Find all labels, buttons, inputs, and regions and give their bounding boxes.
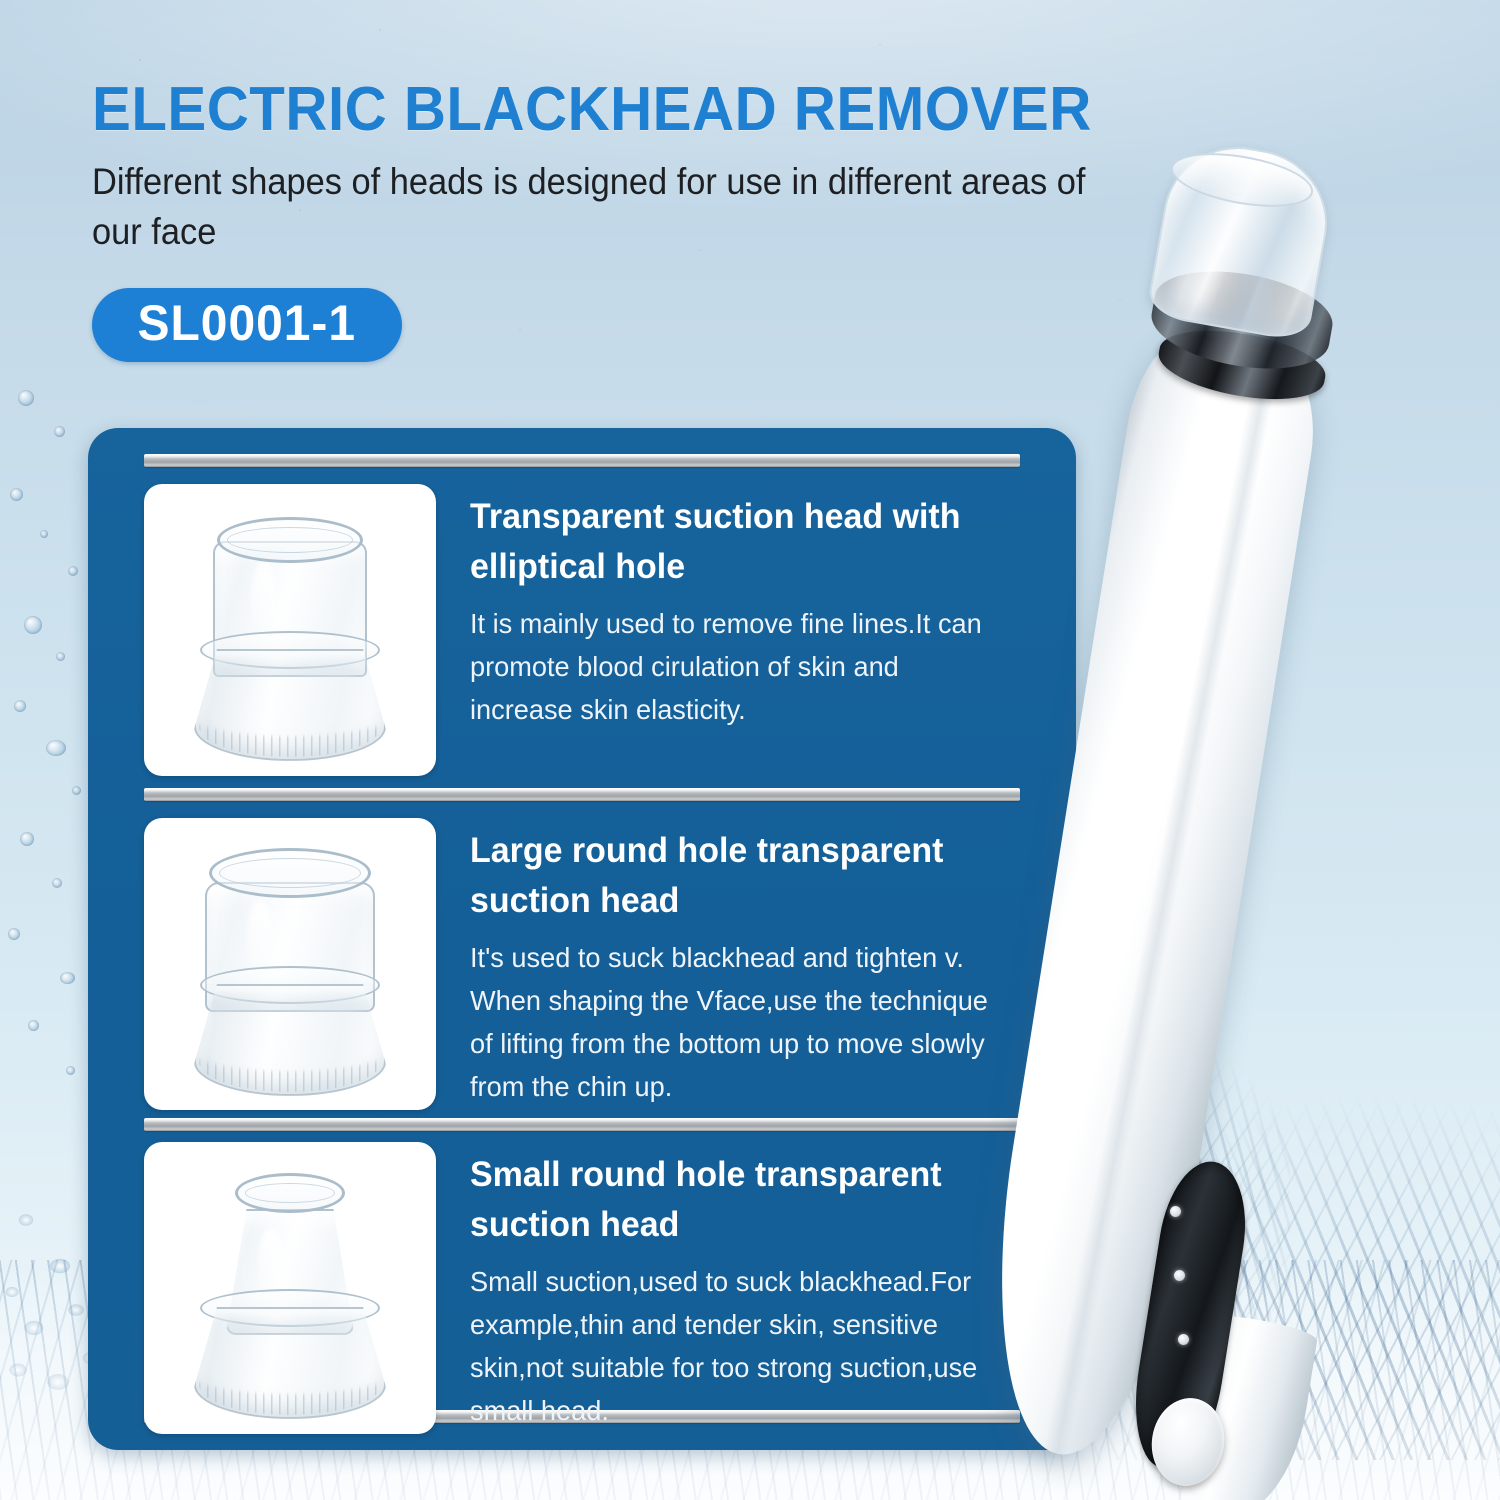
blackhead-remover-device [1108, 138, 1468, 1468]
feature-body: Small suction,used to suck blackhead.For… [470, 1261, 1007, 1432]
feature-title: Large round hole transparent suction hea… [470, 826, 1007, 925]
feature-body: It is mainly used to remove fine lines.I… [470, 603, 1007, 731]
feature-thumbnail [144, 1142, 436, 1434]
feature-body: It's used to suck blackhead and tighten … [470, 937, 1007, 1108]
led-indicator-3 [1178, 1334, 1189, 1345]
feature-text: Large round hole transparent suction hea… [470, 818, 1024, 1110]
suction-head-small-round-icon [190, 1169, 390, 1419]
divider-2 [144, 1118, 1020, 1131]
feature-text: Transparent suction head with elliptical… [470, 484, 1024, 776]
suction-head-large-round-icon [185, 844, 395, 1096]
divider-1 [144, 788, 1020, 801]
feature-thumbnail [144, 818, 436, 1110]
model-badge: SL0001-1 [92, 288, 402, 362]
feature-row: Large round hole transparent suction hea… [144, 818, 1024, 1110]
feature-row: Transparent suction head with elliptical… [144, 484, 1024, 776]
bubble-foam [0, 1070, 92, 1400]
bubble-column [0, 380, 92, 1400]
model-badge-label: SL0001-1 [109, 294, 385, 356]
feature-title: Small round hole transparent suction hea… [470, 1150, 1007, 1249]
divider-top [144, 454, 1020, 467]
feature-text: Small round hole transparent suction hea… [470, 1142, 1024, 1434]
product-infographic: ELECTRIC BLACKHEAD REMOVER Different sha… [0, 0, 1500, 1500]
feature-title: Transparent suction head with elliptical… [470, 492, 1007, 591]
feature-thumbnail [144, 484, 436, 776]
features-card: Transparent suction head with elliptical… [88, 428, 1076, 1450]
feature-row: Small round hole transparent suction hea… [144, 1142, 1024, 1434]
suction-head-elliptical-icon [190, 511, 390, 761]
led-indicator-2 [1174, 1270, 1185, 1281]
led-indicator-1 [1170, 1206, 1181, 1217]
page-subtitle: Different shapes of heads is designed fo… [92, 157, 1106, 257]
header: ELECTRIC BLACKHEAD REMOVER Different sha… [92, 78, 1152, 257]
page-title: ELECTRIC BLACKHEAD REMOVER [92, 78, 1088, 141]
